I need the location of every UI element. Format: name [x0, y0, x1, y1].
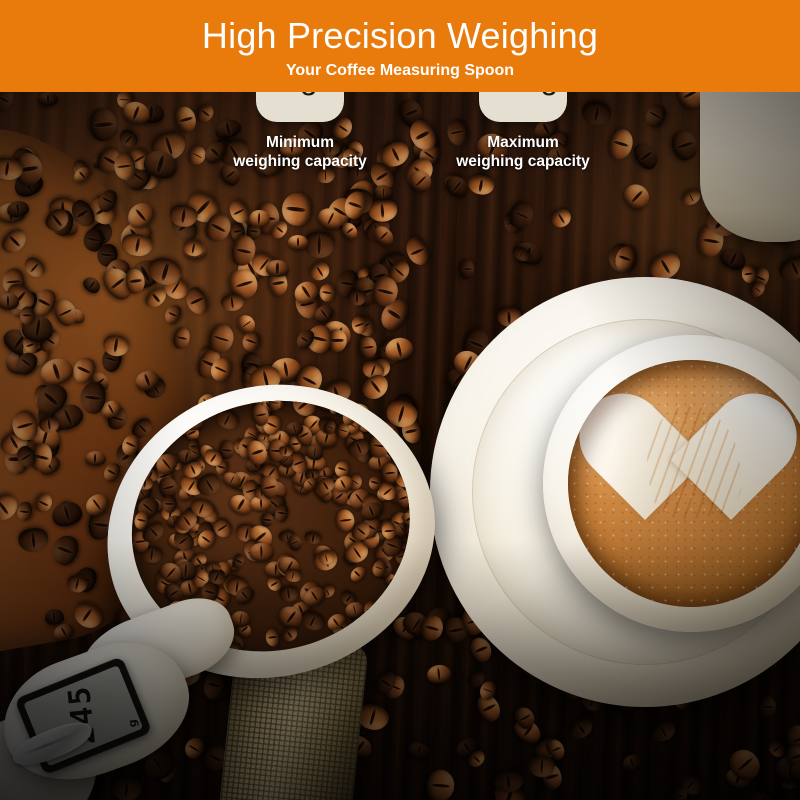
coffee-bean — [266, 260, 289, 278]
badge-caption-maximum: Maximum weighing capacity — [456, 133, 590, 171]
coffee-bean — [621, 752, 644, 773]
page-subtitle: Your Coffee Measuring Spoon — [286, 61, 514, 81]
coffee-bean — [304, 531, 322, 545]
coffee-bean — [775, 251, 800, 285]
badge-caption-minimum-line1: Minimum — [233, 133, 367, 152]
header-banner: High Precision Weighing Your Coffee Meas… — [0, 0, 800, 92]
coffee-bean — [21, 254, 49, 281]
coffee-bean — [249, 542, 273, 561]
coffee-bean — [759, 695, 776, 718]
coffee-bean — [304, 231, 336, 259]
coffee-bean — [278, 584, 299, 602]
badge-caption-maximum-line2: weighing capacity — [456, 152, 590, 171]
badge-caption-maximum-line1: Maximum — [456, 133, 590, 152]
coffee-bean — [288, 235, 308, 250]
product-photo-scene: 245 g — [0, 92, 800, 800]
coffee-bean — [371, 222, 397, 249]
coffee-bean — [347, 564, 367, 584]
coffee-bean — [248, 209, 269, 227]
lcd-unit-label: g — [127, 719, 139, 728]
coffee-bean — [274, 503, 290, 523]
measuring-spoon-product: 245 g — [0, 284, 461, 800]
coffee-bean — [137, 476, 154, 490]
product-marketing-image: 245 g 3g Minimum weighing capacity 800g — [0, 0, 800, 800]
coffee-bean — [648, 717, 679, 745]
coffee-bean — [460, 259, 475, 279]
coffee-bean — [548, 206, 574, 231]
coffee-bean — [162, 496, 177, 514]
coffee-bean — [264, 628, 279, 647]
coffee-bean — [746, 786, 778, 800]
coffee-bean — [169, 203, 200, 229]
badge-caption-minimum: Minimum weighing capacity — [233, 133, 367, 171]
badge-caption-minimum-line2: weighing capacity — [233, 152, 367, 171]
coffee-bean — [269, 395, 282, 412]
coffee-bean — [680, 187, 703, 208]
coffee-bean — [566, 715, 596, 743]
coffee-crema-surface — [568, 360, 800, 607]
coffee-bean — [106, 464, 120, 481]
coffee-bean — [0, 224, 30, 257]
page-title: High Precision Weighing — [202, 16, 598, 56]
latte-art-heart-icon — [643, 396, 793, 546]
coffee-bean — [280, 191, 312, 227]
